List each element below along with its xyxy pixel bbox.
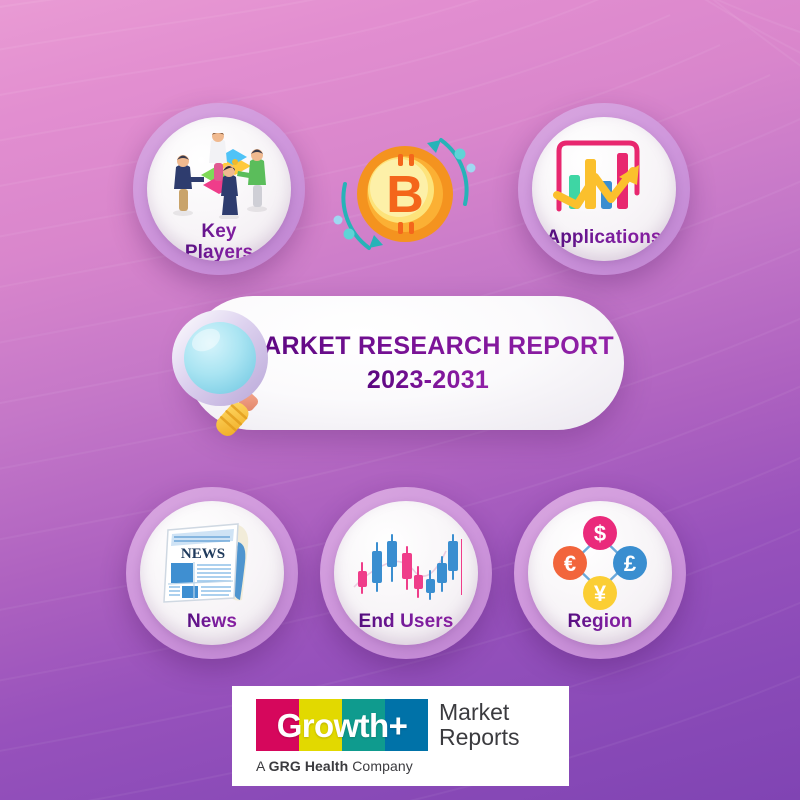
badge-face: $ € £ ¥ Region [528,501,672,645]
currency-symbol-pound: £ [624,551,637,576]
badge-face: End Users [334,501,478,645]
logo-wordmark-text: Growth+ [277,709,408,742]
candlestick-chart-icon [334,517,478,609]
logo-tagline: A GRG Health Company [256,758,549,774]
badge-key-players[interactable]: KeyPlayers [133,103,305,275]
badge-face: NEWS News [140,501,284,645]
brand-logo-card: Growth+ Market Reports A GRG Health Comp… [232,686,569,786]
badge-applications[interactable]: Applications [518,103,690,275]
badge-label: Region [560,611,641,632]
tagline-bold: GRG Health [269,758,349,774]
logo-primary-row: Growth+ Market Reports [256,699,549,751]
newspaper-icon: NEWS [140,517,284,609]
bitcoin-symbol: B [386,166,424,224]
tagline-prefix: A [256,758,269,774]
badge-news[interactable]: NEWS News [126,487,298,659]
growth-plus-wordmark: Growth+ [256,699,428,751]
logo-plus-text: + [389,707,408,744]
badge-label: Applications [538,227,669,248]
banner-title-line1: MARKET RESEARCH REPORT [242,329,614,364]
logo-name-line2: Reports [439,725,520,750]
badge-label: KeyPlayers [177,221,261,261]
badge-label-line1: Key [201,221,236,242]
currency-exchange-icon: $ € £ ¥ [528,517,672,609]
badge-label: News [179,611,245,632]
team-puzzle-icon [147,133,291,219]
logo-name-line1: Market [439,700,520,725]
bar-chart-growth-arrow-icon [532,133,676,225]
badge-region[interactable]: $ € £ ¥ Region [514,487,686,659]
poster-canvas: KeyPlayers B [0,0,800,800]
currency-symbol-yen: ¥ [594,581,607,606]
tagline-suffix: Company [348,758,413,774]
currency-symbol-euro: € [564,551,576,576]
main-banner: MARKET RESEARCH REPORT 2023-2031 [186,296,624,430]
badge-label-line2: Players [185,242,253,261]
logo-market-reports-text: Market Reports [439,700,520,751]
badge-face: KeyPlayers [147,117,291,261]
banner-title-line2: 2023-2031 [367,363,489,398]
badge-end-users[interactable]: End Users [320,487,492,659]
badge-face: Applications [532,117,676,261]
bitcoin-coin-cycle-icon: B [329,118,481,270]
currency-symbol-dollar: $ [594,521,606,546]
badge-label: End Users [351,611,462,632]
logo-growth-text: Growth [277,707,389,744]
newspaper-masthead: NEWS [181,546,225,562]
